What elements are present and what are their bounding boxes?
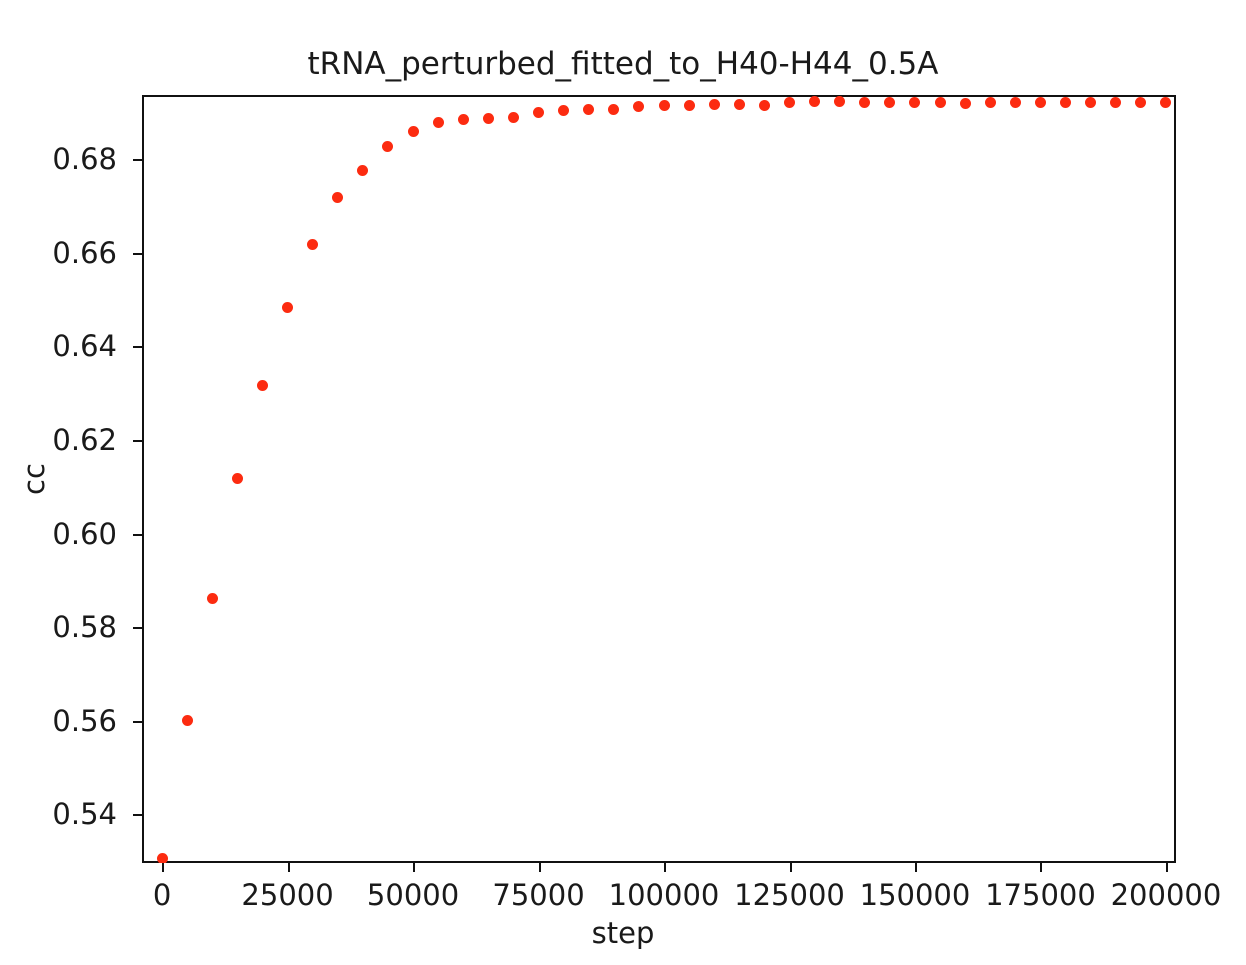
x-axis-tick-label: 200000	[1111, 878, 1222, 912]
data-point	[332, 192, 343, 203]
y-axis-tick	[133, 534, 142, 536]
y-axis-tick-label: 0.64	[52, 329, 117, 363]
data-point	[382, 141, 393, 152]
x-axis-tick-label: 150000	[860, 878, 971, 912]
x-axis-tick	[1040, 863, 1042, 872]
data-point	[483, 113, 494, 124]
data-point	[734, 99, 745, 110]
data-point	[909, 97, 920, 108]
x-axis-tick-label: 0	[153, 878, 171, 912]
y-axis-tick	[133, 814, 142, 816]
y-axis-tick	[133, 721, 142, 723]
data-point	[1110, 97, 1121, 108]
x-axis-tick-label: 125000	[734, 878, 845, 912]
x-axis-tick-label: 100000	[609, 878, 720, 912]
x-axis-tick	[162, 863, 164, 872]
data-point	[558, 105, 569, 116]
data-point	[960, 98, 971, 109]
page-title: tRNA_perturbed_fitted_to_H40-H44_0.5A	[0, 46, 1246, 82]
data-point	[307, 239, 318, 250]
data-point	[859, 97, 870, 108]
data-point	[433, 117, 444, 128]
x-axis-label: step	[0, 916, 1246, 950]
data-point	[207, 593, 218, 604]
data-point	[1135, 97, 1146, 108]
x-axis-tick-label: 25000	[241, 878, 333, 912]
x-axis-tick-label: 50000	[367, 878, 459, 912]
data-point	[608, 104, 619, 115]
data-point	[935, 97, 946, 108]
data-point	[533, 107, 544, 118]
data-point	[809, 96, 820, 107]
data-point	[583, 104, 594, 115]
y-axis-tick-label: 0.56	[52, 704, 117, 738]
y-axis-tick	[133, 440, 142, 442]
y-axis-tick-label: 0.54	[52, 797, 117, 831]
y-axis-tick	[133, 627, 142, 629]
data-point	[408, 126, 419, 137]
data-point	[257, 380, 268, 391]
data-point	[1060, 97, 1071, 108]
x-axis-tick	[915, 863, 917, 872]
y-axis-label: cc	[17, 463, 51, 495]
x-axis-tick-label: 175000	[985, 878, 1096, 912]
data-point	[508, 112, 519, 123]
data-point	[1085, 97, 1096, 108]
data-point	[458, 114, 469, 125]
y-axis-tick-label: 0.60	[52, 517, 117, 551]
data-point	[684, 100, 695, 111]
x-axis-tick	[288, 863, 290, 872]
data-point	[1035, 97, 1046, 108]
y-axis-tick-label: 0.66	[52, 236, 117, 270]
y-axis-tick	[133, 159, 142, 161]
data-point	[659, 100, 670, 111]
y-axis-tick	[133, 346, 142, 348]
plot-area	[142, 95, 1176, 863]
data-point	[985, 97, 996, 108]
y-axis-tick-label: 0.68	[52, 142, 117, 176]
data-point	[232, 473, 243, 484]
y-axis-tick	[133, 253, 142, 255]
x-axis-tick	[664, 863, 666, 872]
data-point	[357, 165, 368, 176]
data-point	[759, 100, 770, 111]
x-axis-tick-label: 75000	[492, 878, 584, 912]
data-point	[834, 96, 845, 107]
data-point	[709, 99, 720, 110]
data-point	[1010, 97, 1021, 108]
x-axis-tick	[413, 863, 415, 872]
x-axis-tick	[1166, 863, 1168, 872]
y-axis-tick-label: 0.62	[52, 423, 117, 457]
data-point	[884, 97, 895, 108]
x-axis-tick	[790, 863, 792, 872]
x-axis-tick	[539, 863, 541, 872]
data-point	[1160, 97, 1171, 108]
data-point	[157, 853, 168, 863]
data-point	[182, 715, 193, 726]
data-point	[633, 101, 644, 112]
scatter-plot-figure: tRNA_perturbed_fitted_to_H40-H44_0.5A 0.…	[0, 0, 1246, 965]
y-axis-tick-label: 0.58	[52, 610, 117, 644]
data-point	[282, 302, 293, 313]
data-point	[784, 97, 795, 108]
